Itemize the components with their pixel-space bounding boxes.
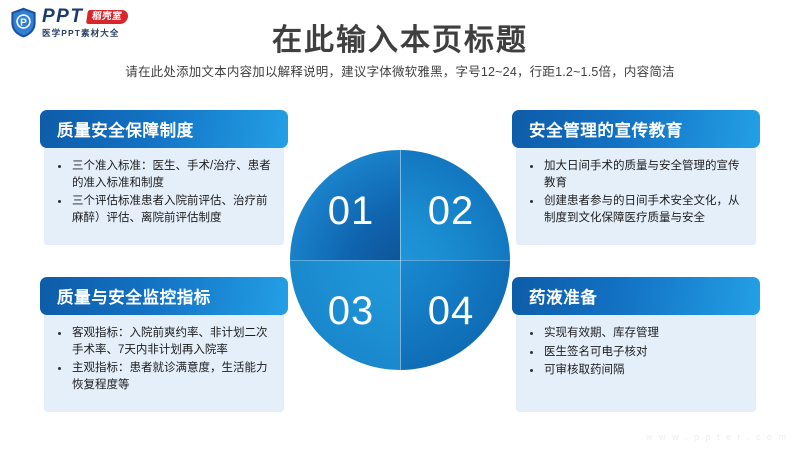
bullet-list: 三个准入标准：医生、手术/治疗、患者的准入标准和制度 三个评估标准患者入院前评估…	[54, 158, 274, 227]
quadrant-number: 04	[428, 291, 475, 331]
card-header: 质量安全保障制度	[40, 110, 288, 148]
card-title: 药液准备	[529, 284, 597, 308]
center-quadrant-diagram: 01 02 03 04	[290, 150, 510, 370]
card-top-right[interactable]: 加大日间手术的质量与安全管理的宣传教育 创建患者参与的日间手术安全文化，从制度到…	[512, 110, 760, 245]
list-item: 三个准入标准：医生、手术/治疗、患者的准入标准和制度	[54, 158, 274, 191]
list-item: 主观指标：患者就诊满意度，生活能力恢复程度等	[54, 360, 274, 393]
card-top-left[interactable]: 三个准入标准：医生、手术/治疗、患者的准入标准和制度 三个评估标准患者入院前评估…	[40, 110, 288, 245]
list-item: 加大日间手术的质量与安全管理的宣传教育	[526, 158, 746, 191]
quadrant-04[interactable]: 04	[400, 260, 510, 370]
quadrant-01[interactable]: 01	[290, 150, 400, 260]
list-item: 客观指标：入院前爽约率、非计划二次手术率、7天内非计划再入院率	[54, 325, 274, 358]
card-bottom-left[interactable]: 客观指标：入院前爽约率、非计划二次手术率、7天内非计划再入院率 主观指标：患者就…	[40, 277, 288, 412]
quadrant-02[interactable]: 02	[400, 150, 510, 260]
bullet-list: 客观指标：入院前爽约率、非计划二次手术率、7天内非计划再入院率 主观指标：患者就…	[54, 325, 274, 394]
card-header: 药液准备	[512, 277, 760, 315]
card-body: 加大日间手术的质量与安全管理的宣传教育 创建患者参与的日间手术安全文化，从制度到…	[516, 132, 756, 245]
card-body: 客观指标：入院前爽约率、非计划二次手术率、7天内非计划再入院率 主观指标：患者就…	[44, 299, 284, 412]
quadrant-divider-horizontal	[290, 260, 510, 261]
quadrant-03[interactable]: 03	[290, 260, 400, 370]
bullet-list: 实现有效期、库存管理 医生签名可电子核对 可审核取药间隔	[526, 325, 746, 379]
page-title: 在此输入本页标题	[0, 15, 800, 59]
quadrant-number: 01	[328, 191, 375, 231]
card-title: 质量安全保障制度	[57, 117, 194, 141]
card-header: 安全管理的宣传教育	[512, 110, 760, 148]
quadrant-number: 03	[328, 291, 375, 331]
card-title: 安全管理的宣传教育	[529, 117, 683, 141]
card-header: 质量与安全监控指标	[40, 277, 288, 315]
page-subtitle: 请在此处添加文本内容加以解释说明，建议字体微软雅黑，字号12~24，行距1.2~…	[0, 61, 800, 80]
bullet-list: 加大日间手术的质量与安全管理的宣传教育 创建患者参与的日间手术安全文化，从制度到…	[526, 158, 746, 227]
card-title: 质量与安全监控指标	[57, 284, 211, 308]
quadrant-number: 02	[428, 191, 475, 231]
card-body: 三个准入标准：医生、手术/治疗、患者的准入标准和制度 三个评估标准患者入院前评估…	[44, 132, 284, 245]
card-body: 实现有效期、库存管理 医生签名可电子核对 可审核取药间隔	[516, 299, 756, 412]
list-item: 创建患者参与的日间手术安全文化，从制度到文化保障医疗质量与安全	[526, 193, 746, 226]
list-item: 实现有效期、库存管理	[526, 325, 746, 342]
card-bottom-right[interactable]: 实现有效期、库存管理 医生签名可电子核对 可审核取药间隔 药液准备	[512, 277, 760, 412]
list-item: 医生签名可电子核对	[526, 344, 746, 361]
watermark: w w w . p p t e r . c o m	[646, 432, 788, 442]
list-item: 三个评估标准患者入院前评估、治疗前麻醉）评估、离院前评估制度	[54, 193, 274, 226]
list-item: 可审核取药间隔	[526, 362, 746, 379]
